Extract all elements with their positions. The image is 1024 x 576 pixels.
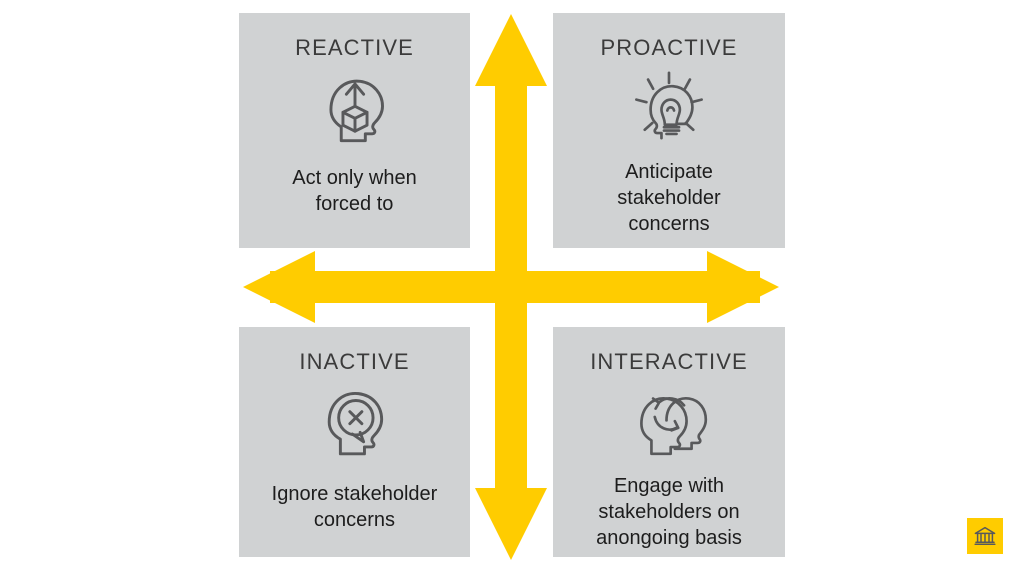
arrow-left-icon <box>243 251 760 323</box>
desc-line: concerns <box>272 507 438 533</box>
desc-line: concerns <box>617 211 720 237</box>
head-lightbulb-idea-icon <box>623 65 715 151</box>
arrow-center-hub <box>495 271 527 303</box>
quadrant-title-interactive: INTERACTIVE <box>590 351 748 373</box>
head-box-up-arrow-icon <box>312 65 398 151</box>
quadrant-title-reactive: REACTIVE <box>295 37 414 59</box>
quadrant-reactive[interactable]: REACTIVE Act only when forced to <box>239 13 470 248</box>
arrow-up-icon <box>475 14 547 490</box>
desc-line: Act only when <box>292 165 417 191</box>
desc-line: Anticipate <box>617 159 720 185</box>
logo-badge[interactable] <box>967 518 1003 554</box>
arrow-right-icon <box>270 251 779 323</box>
bank-building-icon <box>973 524 997 548</box>
quadrant-desc-proactive: Anticipate stakeholder concerns <box>607 159 730 237</box>
desc-line: stakeholder <box>617 185 720 211</box>
arrow-down-icon <box>475 300 547 560</box>
desc-line: forced to <box>292 191 417 217</box>
two-heads-exchange-arrows-icon <box>623 379 715 465</box>
quadrant-title-proactive: PROACTIVE <box>600 37 737 59</box>
head-speech-bubble-x-icon <box>312 379 398 465</box>
axis-cross-arrows <box>0 0 1024 576</box>
quadrant-interactive[interactable]: INTERACTIVE Engage with stakeholders on … <box>553 327 785 557</box>
quadrant-title-inactive: INACTIVE <box>299 351 409 373</box>
quadrant-desc-inactive: Ignore stakeholder concerns <box>262 481 448 533</box>
desc-line: Ignore stakeholder <box>272 481 438 507</box>
quadrant-desc-interactive: Engage with stakeholders on anongoing ba… <box>586 473 752 551</box>
desc-line: Engage with <box>596 473 742 499</box>
quadrant-proactive[interactable]: PROACTIVE <box>553 13 785 248</box>
diagram-canvas: REACTIVE Act only when forced to PROACTI… <box>0 0 1024 576</box>
quadrant-inactive[interactable]: INACTIVE Ignore stakeholder concerns <box>239 327 470 557</box>
quadrant-desc-reactive: Act only when forced to <box>282 165 427 217</box>
desc-line: anongoing basis <box>596 525 742 551</box>
desc-line: stakeholders on <box>596 499 742 525</box>
